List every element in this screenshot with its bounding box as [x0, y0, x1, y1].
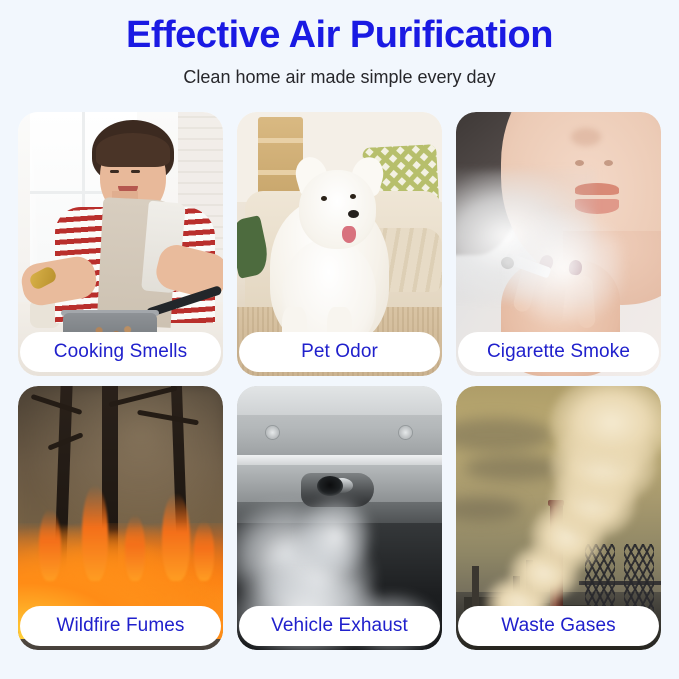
- page-title: Effective Air Purification: [0, 14, 679, 58]
- card-pet-odor[interactable]: Pet Odor: [237, 112, 442, 376]
- poster-root: Effective Air Purification Clean home ai…: [0, 0, 679, 679]
- card-label-wildfire-fumes: Wildfire Fumes: [20, 606, 221, 646]
- page-subtitle: Clean home air made simple every day: [0, 67, 679, 89]
- card-label-text: Cigarette Smoke: [487, 341, 630, 363]
- header: Effective Air Purification Clean home ai…: [0, 0, 679, 88]
- card-label-waste-gases: Waste Gases: [458, 606, 659, 646]
- card-label-cooking-smells: Cooking Smells: [20, 332, 221, 372]
- card-label-text: Wildfire Fumes: [56, 615, 184, 637]
- card-wildfire-fumes[interactable]: Wildfire Fumes: [18, 386, 223, 650]
- card-cigarette-smoke[interactable]: Cigarette Smoke: [456, 112, 661, 376]
- feature-card-grid: Cooking Smells: [18, 112, 661, 650]
- card-waste-gases[interactable]: Waste Gases: [456, 386, 661, 650]
- card-label-text: Cooking Smells: [54, 341, 187, 363]
- card-label-cigarette-smoke: Cigarette Smoke: [458, 332, 659, 372]
- card-label-vehicle-exhaust: Vehicle Exhaust: [239, 606, 440, 646]
- card-cooking-smells[interactable]: Cooking Smells: [18, 112, 223, 376]
- card-label-text: Vehicle Exhaust: [271, 615, 408, 637]
- card-vehicle-exhaust[interactable]: Vehicle Exhaust: [237, 386, 442, 650]
- card-label-text: Pet Odor: [301, 341, 378, 363]
- card-label-text: Waste Gases: [501, 615, 615, 637]
- card-label-pet-odor: Pet Odor: [239, 332, 440, 372]
